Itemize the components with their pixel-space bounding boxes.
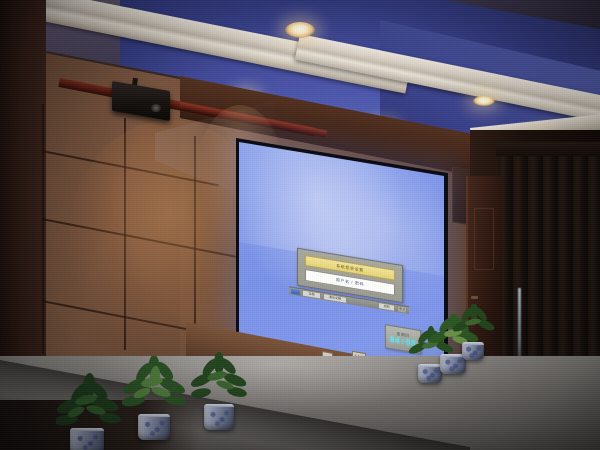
pot-rim: [418, 364, 442, 367]
leaf-cluster-icon: [56, 372, 122, 434]
taskbar-system-tray[interactable]: 中 A: [397, 305, 407, 314]
plant-foliage: [452, 304, 496, 346]
leaf-cluster-icon: [122, 356, 186, 418]
taskbar-item-0[interactable]: 文档: [302, 289, 321, 299]
taskbar-item-1-label: 演示文稿: [329, 296, 341, 301]
taskbar-start-button[interactable]: [291, 289, 300, 295]
recessed-downlight-1-icon: [285, 22, 315, 38]
plant-pot: [70, 428, 104, 450]
taskbar-item-0-label: 文档: [308, 293, 314, 297]
plant-foliage: [122, 356, 186, 418]
plant-pot: [138, 414, 170, 440]
plant-foliage: [56, 372, 122, 434]
projector-lens-icon: [151, 104, 161, 112]
plant-pot: [204, 404, 234, 430]
window-curtain: [498, 150, 600, 380]
plant-pot: [418, 364, 442, 383]
pot-rim: [462, 342, 484, 345]
leaf-cluster-icon: [452, 304, 496, 346]
taskbar-spacer: [349, 301, 376, 305]
curtain-valance: [496, 142, 600, 156]
door-handle-icon[interactable]: [471, 296, 478, 299]
panel-joint-vertical-3: [42, 104, 44, 354]
conference-room-scene: 系统登录设置 用户名 / 密码 文档 演示文稿 控制 中 A: [0, 0, 600, 450]
panel-joint-vertical-1: [124, 118, 126, 350]
taskbar-item-2-label: 控制: [384, 305, 390, 309]
taskbar-tray-label: 中 A: [399, 308, 405, 312]
pot-rim: [70, 428, 104, 431]
recessed-downlight-5-icon: [473, 96, 495, 106]
taskbar-item-1[interactable]: 演示文稿: [323, 293, 347, 304]
door-panel-inset: [474, 208, 494, 270]
plant-pot: [462, 342, 484, 360]
pot-rim: [138, 414, 170, 417]
dialog-input-text: 用户名 / 密码: [336, 278, 364, 287]
plant-foliage: [190, 352, 248, 408]
dialog-title-text: 系统登录设置: [336, 264, 364, 273]
pot-rim: [204, 404, 234, 407]
leaf-cluster-icon: [190, 352, 248, 408]
taskbar-item-2[interactable]: 控制: [378, 302, 395, 312]
